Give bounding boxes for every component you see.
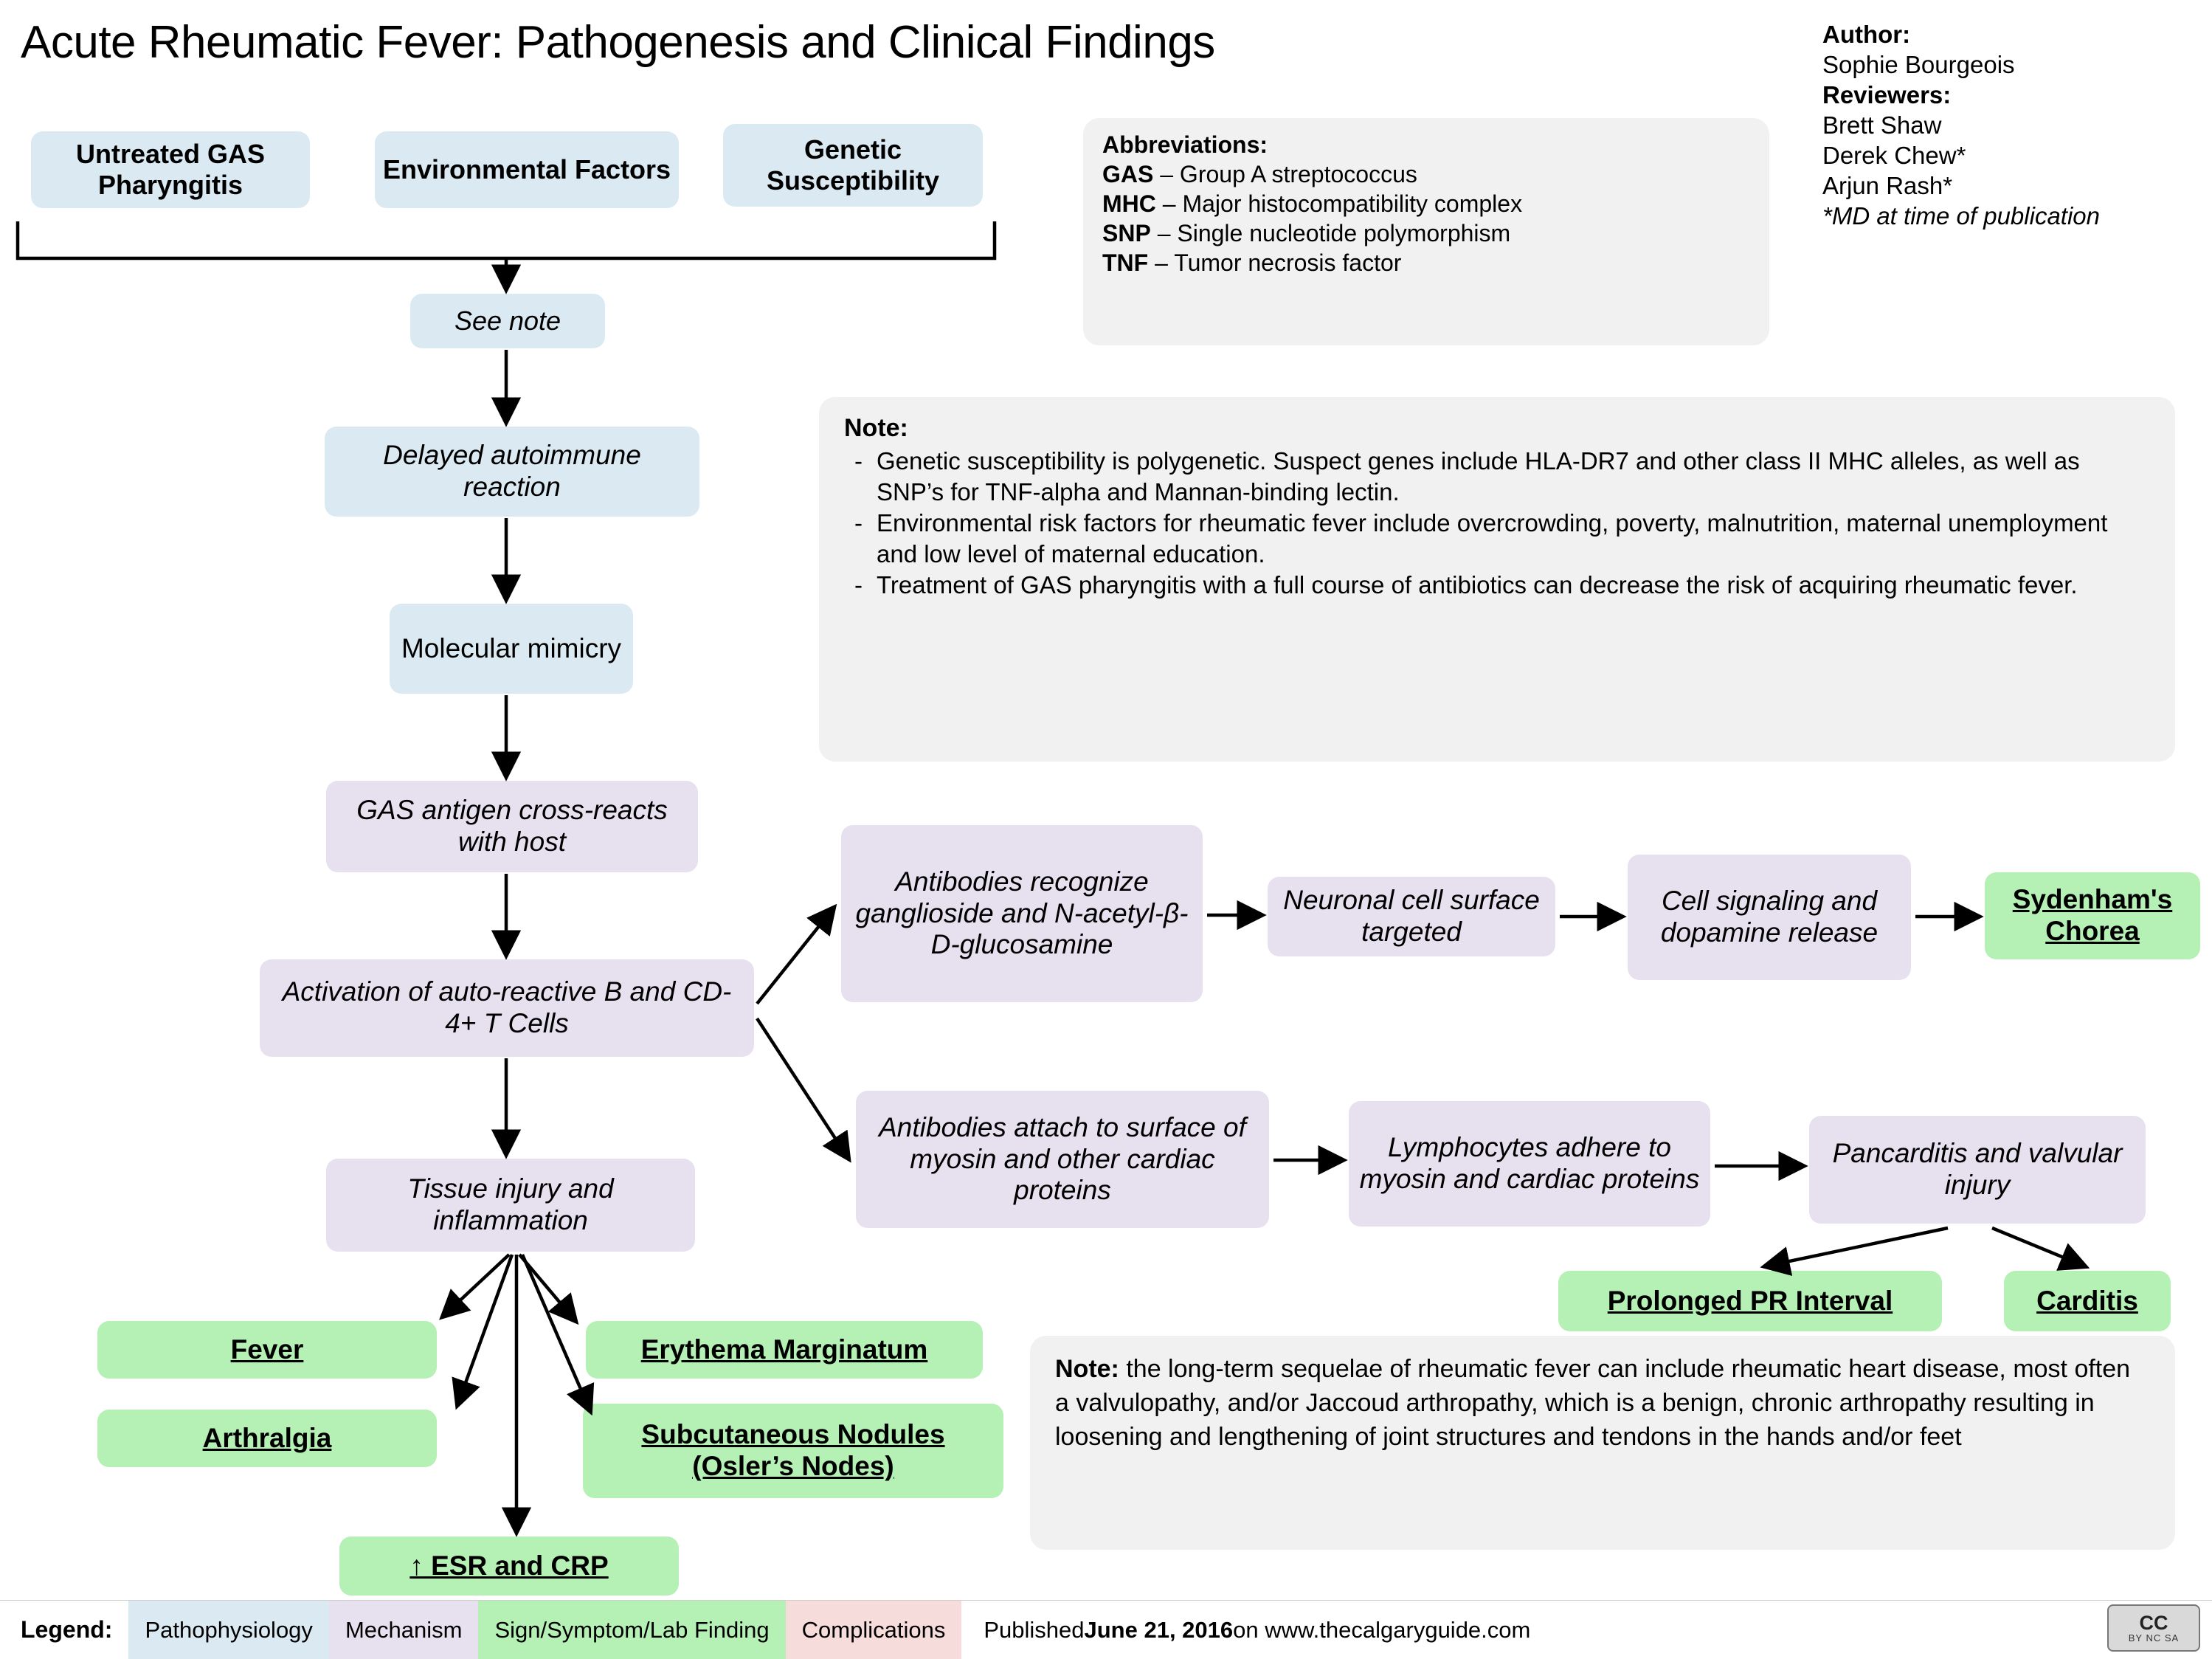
legend-published-suffix: on www.thecalgaryguide.com <box>1233 1617 1530 1644</box>
legend-cell-pathophysiology: Pathophysiology <box>128 1601 329 1659</box>
note-bottom-text: the long-term sequelae of rheumatic feve… <box>1055 1355 2130 1451</box>
node-arthralgia-label: Arthralgia <box>203 1423 332 1455</box>
abbreviations-colon: : <box>1259 131 1268 158</box>
abbr-term-snp: SNP <box>1102 220 1151 246</box>
node-environmental-factors[interactable]: Environmental Factors <box>375 131 679 208</box>
legend-cell-complications: Complications <box>786 1601 962 1659</box>
abbr-def-tnf: – Tumor necrosis factor <box>1148 249 1401 276</box>
node-cell-signaling-dopamine-release[interactable]: Cell signaling and dopamine release <box>1628 855 1911 980</box>
author-name: Sophie Bourgeois <box>1822 49 2212 80</box>
node-activation-auto-reactive-cells[interactable]: Activation of auto-reactive B and CD-4+ … <box>260 959 754 1057</box>
legend-cell-mechanism: Mechanism <box>329 1601 479 1659</box>
node-molecular-mimicry[interactable]: Molecular mimicry <box>390 604 633 694</box>
node-erythema-marginatum[interactable]: Erythema Marginatum <box>586 1321 983 1379</box>
node-gas-antigen-cross-reacts[interactable]: GAS antigen cross-reacts with host <box>326 781 698 872</box>
node-subcutaneous-nodules-label: Subcutaneous Nodules (Osler’s Nodes) <box>590 1419 996 1483</box>
abbr-term-mhc: MHC <box>1102 190 1156 217</box>
node-prolonged-pr-interval[interactable]: Prolonged PR Interval <box>1558 1271 1942 1331</box>
note-top-heading: Note: <box>844 413 2150 443</box>
abbr-def-snp: – Single nucleotide polymorphism <box>1151 220 1510 246</box>
node-pancarditis-valvular-injury[interactable]: Pancarditis and valvular injury <box>1809 1116 2146 1224</box>
legend-publication: Published June 21, 2016 on www.thecalgar… <box>961 1601 1552 1659</box>
legend-published-prefix: Published <box>984 1617 1084 1644</box>
reviewers-label: Reviewers: <box>1822 80 2212 110</box>
node-untreated-gas-pharyngitis[interactable]: Untreated GAS Pharyngitis <box>31 131 310 208</box>
node-antibodies-recognize-ganglioside[interactable]: Antibodies recognize ganglioside and N-a… <box>841 825 1203 1002</box>
creative-commons-icon[interactable]: CC BY NC SA <box>2107 1604 2200 1652</box>
node-carditis[interactable]: Carditis <box>2004 1271 2171 1331</box>
node-neuronal-cell-surface-targeted[interactable]: Neuronal cell surface targeted <box>1268 877 1555 956</box>
cc-badge-bottom: BY NC SA <box>2129 1632 2179 1644</box>
node-see-note[interactable]: See note <box>410 294 605 348</box>
abbr-term-gas: GAS <box>1102 161 1153 187</box>
reviewer-3: Arjun Rash* <box>1822 170 2212 201</box>
note-top-item-1: Genetic susceptibility is polygenetic. S… <box>844 446 2150 508</box>
note-top-item-3: Treatment of GAS pharyngitis with a full… <box>844 570 2150 601</box>
node-esr-and-crp-label: ↑ ESR and CRP <box>409 1551 608 1582</box>
node-fever[interactable]: Fever <box>97 1321 437 1379</box>
author-footnote: *MD at time of publication <box>1822 201 2212 231</box>
abbreviations-panel: Abbreviations: GAS – Group A streptococc… <box>1083 118 1769 345</box>
legend-label: Legend: <box>0 1601 128 1659</box>
legend-cell-sign-symptom: Sign/Symptom/Lab Finding <box>478 1601 785 1659</box>
node-subcutaneous-nodules[interactable]: Subcutaneous Nodules (Osler’s Nodes) <box>583 1404 1003 1498</box>
reviewer-2: Derek Chew* <box>1822 140 2212 170</box>
page-title: Acute Rheumatic Fever: Pathogenesis and … <box>21 16 1215 69</box>
note-bottom-panel: Note: the long-term sequelae of rheumati… <box>1030 1336 2175 1550</box>
node-prolonged-pr-interval-label: Prolonged PR Interval <box>1608 1286 1893 1317</box>
node-arthralgia[interactable]: Arthralgia <box>97 1410 437 1467</box>
reviewer-1: Brett Shaw <box>1822 110 2212 140</box>
note-bottom-heading: Note: <box>1055 1355 1119 1383</box>
node-erythema-marginatum-label: Erythema Marginatum <box>641 1334 928 1366</box>
abbr-term-tnf: TNF <box>1102 249 1148 276</box>
node-tissue-injury-inflammation[interactable]: Tissue injury and inflammation <box>326 1159 695 1252</box>
node-esr-and-crp[interactable]: ↑ ESR and CRP <box>339 1536 679 1596</box>
node-fever-label: Fever <box>231 1334 304 1366</box>
node-sydenhams-chorea-label: Sydenham's Chorea <box>1992 884 2193 948</box>
abbreviations-heading: Abbreviations <box>1102 131 1259 158</box>
cc-badge-top: CC <box>2140 1613 2168 1632</box>
abbr-def-mhc: – Major histocompatibility complex <box>1156 190 1522 217</box>
diagram-canvas: Acute Rheumatic Fever: Pathogenesis and … <box>0 0 2212 1659</box>
note-top-item-2: Environmental risk factors for rheumatic… <box>844 508 2150 570</box>
node-genetic-susceptibility[interactable]: Genetic Susceptibility <box>723 124 983 207</box>
node-lymphocytes-adhere-myosin[interactable]: Lymphocytes adhere to myosin and cardiac… <box>1349 1101 1710 1227</box>
legend-published-date: June 21, 2016 <box>1085 1617 1234 1644</box>
node-sydenhams-chorea[interactable]: Sydenham's Chorea <box>1985 872 2200 959</box>
abbr-def-gas: – Group A streptococcus <box>1153 161 1417 187</box>
node-carditis-label: Carditis <box>2036 1286 2138 1317</box>
node-antibodies-attach-myosin[interactable]: Antibodies attach to surface of myosin a… <box>856 1091 1269 1228</box>
node-delayed-autoimmune-reaction[interactable]: Delayed autoimmune reaction <box>325 427 699 517</box>
author-block: Author: Sophie Bourgeois Reviewers: Bret… <box>1822 19 2212 231</box>
author-label: Author: <box>1822 19 2212 49</box>
legend-bar: Legend: Pathophysiology Mechanism Sign/S… <box>0 1600 2212 1659</box>
note-top-list: Genetic susceptibility is polygenetic. S… <box>844 446 2150 601</box>
note-top-panel: Note: Genetic susceptibility is polygene… <box>819 397 2175 762</box>
